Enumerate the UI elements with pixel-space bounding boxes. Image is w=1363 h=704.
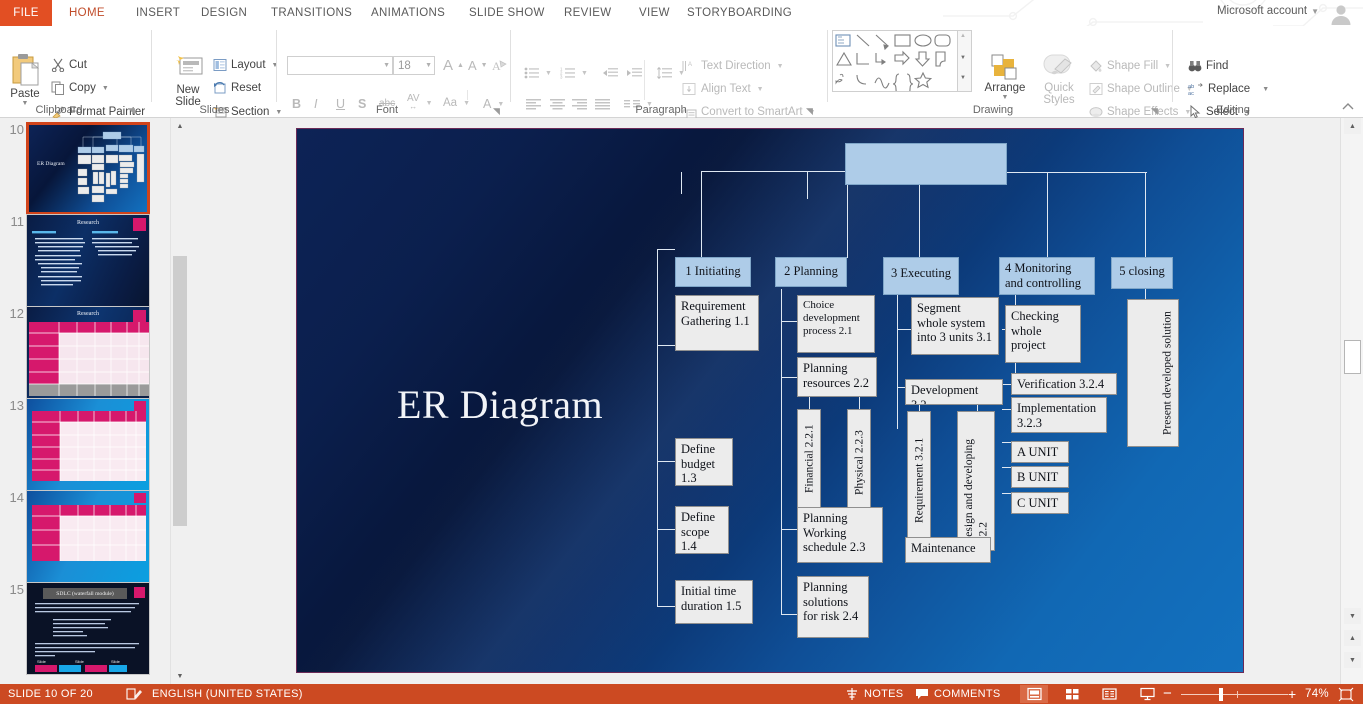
line-spacing-icon bbox=[657, 67, 672, 79]
connector bbox=[657, 249, 658, 606]
connector bbox=[781, 377, 797, 378]
shapes-more-icon[interactable]: ▼ bbox=[960, 75, 966, 81]
thumbnail-number: 12 bbox=[2, 306, 24, 321]
reset-icon bbox=[213, 81, 227, 95]
numbered-list-icon: 123 bbox=[560, 67, 575, 79]
connector bbox=[1145, 172, 1146, 257]
node-design-and-developing-3-2-2[interactable]: Design and developing 3.2.2 bbox=[957, 411, 995, 551]
group-label-clipboard: Clipboard bbox=[0, 104, 118, 116]
zoom-slider-track[interactable] bbox=[1181, 694, 1288, 695]
collapse-ribbon-button[interactable] bbox=[1341, 102, 1355, 115]
thumbnail-number: 13 bbox=[2, 398, 24, 413]
thumbnail-text-preview: SlideSlideSlide bbox=[33, 603, 145, 673]
group-clipboard: Paste ▼ Cut Copy ▼ bbox=[0, 26, 152, 118]
normal-view-icon bbox=[1027, 687, 1042, 701]
clear-all-formatting-button[interactable]: A bbox=[489, 57, 511, 74]
group-label-drawing: Drawing bbox=[828, 104, 1158, 116]
layout-button[interactable]: Layout ▼ bbox=[210, 57, 281, 73]
connector bbox=[657, 345, 675, 346]
layout-icon bbox=[213, 58, 227, 72]
tab-home[interactable]: HOME bbox=[60, 0, 114, 26]
font-name-input[interactable]: ▼ bbox=[287, 56, 393, 75]
node-b-unit[interactable]: B UNIT bbox=[1011, 466, 1069, 488]
font-size-value: 18 bbox=[398, 60, 411, 72]
text-direction-icon: A bbox=[682, 59, 697, 73]
group-editing: Find ab ac Replace ▼ Select ▼ Editing bbox=[1173, 26, 1293, 118]
paste-label: Paste bbox=[10, 88, 39, 100]
chevron-down-icon: ▼ bbox=[1164, 63, 1171, 70]
node-3-executing[interactable]: 3 Executing bbox=[883, 257, 959, 295]
svg-text:ac: ac bbox=[1188, 91, 1194, 96]
thumbnail-table-preview bbox=[29, 322, 149, 398]
thumbnail-badge bbox=[134, 401, 146, 411]
clipboard-dialog-launcher[interactable]: ◥ bbox=[128, 106, 138, 116]
reading-view-icon bbox=[1102, 687, 1117, 701]
node-1-initiating[interactable]: 1 Initiating bbox=[675, 257, 751, 287]
previous-slide-button[interactable]: ▲ bbox=[1344, 630, 1361, 646]
layout-label: Layout bbox=[231, 59, 266, 72]
zoom-out-button[interactable]: − bbox=[1163, 684, 1172, 704]
zoom-in-button[interactable]: + bbox=[1288, 684, 1296, 704]
node-planning-solutions-for-risk-2-4[interactable]: Planning solutions for risk 2.4 bbox=[797, 576, 869, 638]
chevron-down-icon: ▼ bbox=[383, 62, 390, 69]
chevron-up-icon[interactable]: ▲ bbox=[960, 33, 966, 39]
chevron-down-icon: ▼ bbox=[581, 70, 588, 77]
thumbnail-badge bbox=[134, 587, 145, 598]
arrange-button[interactable]: Arrange ▼ bbox=[980, 52, 1030, 101]
view-reading-button[interactable] bbox=[1095, 685, 1123, 703]
slideshow-icon bbox=[1140, 687, 1155, 701]
chevron-down-icon: ▼ bbox=[545, 70, 552, 77]
paint-bucket-icon bbox=[1089, 59, 1103, 73]
comments-label: COMMENTS bbox=[934, 684, 1001, 704]
binoculars-icon bbox=[1188, 59, 1202, 73]
group-label-slides: Slides bbox=[152, 104, 277, 116]
proofing-status-button[interactable] bbox=[126, 684, 143, 704]
view-normal-button[interactable] bbox=[1020, 685, 1048, 703]
next-slide-button[interactable]: ▼ bbox=[1344, 652, 1361, 668]
chevron-down-icon: ▼ bbox=[102, 85, 109, 92]
thumbnail-bullets-preview bbox=[32, 231, 146, 303]
slide-thumbnail-panel[interactable]: 10 ER Diagram bbox=[0, 118, 170, 684]
node-a-unit[interactable]: A UNIT bbox=[1011, 441, 1069, 463]
reset-label: Reset bbox=[231, 82, 261, 95]
shrink-font-icon: A bbox=[468, 58, 477, 73]
tab-design[interactable]: DESIGN bbox=[192, 0, 256, 26]
node-planning-working-schedule-2-3[interactable]: Planning Working schedule 2.3 bbox=[797, 507, 883, 563]
tab-storyboarding[interactable]: STORYBOARDING bbox=[678, 0, 801, 26]
thumbnail-table-preview bbox=[32, 411, 146, 483]
divider bbox=[467, 90, 468, 100]
increase-indent-button[interactable] bbox=[623, 66, 645, 80]
shapes-gallery[interactable] bbox=[832, 30, 958, 92]
thumbnail-number: 15 bbox=[2, 582, 24, 597]
account-label: Microsoft account bbox=[1217, 5, 1307, 17]
decrease-indent-button[interactable] bbox=[599, 66, 621, 80]
scrollbar-thumb[interactable] bbox=[173, 256, 187, 526]
thumbnail-slide-15[interactable]: SDLC (waterfall module) SlideSlideSlide bbox=[26, 582, 150, 675]
increase-indent-icon bbox=[626, 67, 642, 79]
svg-text:ab: ab bbox=[1188, 84, 1194, 90]
bullets-button[interactable]: ▼ bbox=[521, 66, 555, 80]
cut-label: Cut bbox=[69, 59, 87, 72]
thumbnail-table-preview bbox=[32, 505, 146, 571]
svg-text:Slide: Slide bbox=[111, 659, 121, 664]
group-drawing: ▲ ▼ ▼ Arrange ▼ Quick Styles bbox=[828, 26, 1173, 118]
fit-to-window-icon bbox=[1338, 687, 1354, 702]
connector bbox=[1047, 172, 1048, 257]
zoom-slider-tick bbox=[1237, 691, 1238, 698]
connector bbox=[657, 249, 675, 250]
thumbnail-badge bbox=[134, 493, 146, 503]
thumbnail-number: 10 bbox=[2, 122, 24, 137]
scrollbar-thumb[interactable] bbox=[1344, 340, 1361, 374]
quick-styles-button[interactable]: Quick Styles bbox=[1033, 52, 1085, 106]
slideshow-button[interactable] bbox=[1133, 685, 1161, 703]
chevron-down-icon: ▼ bbox=[777, 63, 784, 70]
language-indicator: ENGLISH (UNITED STATES) bbox=[152, 684, 303, 704]
cut-button[interactable]: Cut bbox=[48, 57, 90, 73]
connector bbox=[657, 461, 675, 462]
quick-styles-icon bbox=[1041, 52, 1077, 82]
slide-view-scrollbar[interactable]: ▲ ▼ ▲ ▼ bbox=[1340, 118, 1363, 684]
node-2-planning[interactable]: 2 Planning bbox=[775, 257, 847, 287]
tab-slide-show[interactable]: SLIDE SHOW bbox=[460, 0, 554, 26]
pencil-outline-icon bbox=[1089, 82, 1103, 96]
scissors-icon bbox=[51, 58, 65, 72]
node-financial-2-2-1[interactable]: Financial 2.2.1 bbox=[797, 409, 821, 509]
svg-text:Slide: Slide bbox=[37, 659, 47, 664]
thumbnail-title: ER Diagram bbox=[37, 161, 65, 167]
chevron-down-icon: ▼ bbox=[1002, 94, 1009, 101]
node-root[interactable] bbox=[845, 143, 1007, 185]
notes-icon bbox=[845, 687, 859, 701]
new-slide-icon bbox=[172, 54, 204, 84]
connector bbox=[701, 171, 702, 271]
new-slide-label-line1: New bbox=[176, 84, 199, 96]
find-label: Find bbox=[1206, 60, 1228, 73]
node-initial-time-duration-1-5[interactable]: Initial time duration 1.5 bbox=[675, 580, 753, 624]
node-verification-3-2-4[interactable]: Verification 3.2.4 bbox=[1011, 373, 1117, 395]
zoom-slider-handle[interactable] bbox=[1219, 688, 1223, 701]
node-present-developed-solution[interactable]: Present developed solution bbox=[1127, 299, 1179, 447]
svg-text:A: A bbox=[492, 59, 501, 73]
node-5-closing[interactable]: 5 closing bbox=[1111, 257, 1173, 289]
thumbnail-title: Research bbox=[27, 311, 149, 317]
scroll-up-arrow[interactable]: ▲ bbox=[1344, 118, 1361, 134]
comment-icon bbox=[915, 687, 929, 701]
node-checking-whole-project[interactable]: Checking whole project bbox=[1005, 305, 1081, 363]
copy-label: Copy bbox=[69, 82, 96, 95]
thumbnail-badge bbox=[133, 310, 146, 322]
zoom-percent-label: 74% bbox=[1305, 684, 1329, 704]
tab-animations[interactable]: ANIMATIONS bbox=[362, 0, 454, 26]
group-label-editing: Editing bbox=[1173, 104, 1293, 116]
group-label-font: Font bbox=[277, 104, 497, 116]
chevron-down-icon: ▼ bbox=[1311, 7, 1319, 16]
group-label-paragraph: Paragraph bbox=[511, 104, 811, 116]
arrange-label: Arrange bbox=[985, 82, 1026, 94]
copy-button[interactable]: Copy ▼ bbox=[48, 80, 112, 96]
arrange-icon bbox=[988, 52, 1022, 82]
grow-font-icon: A bbox=[443, 58, 453, 73]
align-text-label: Align Text bbox=[701, 83, 751, 96]
decrease-font-size-button[interactable]: A▼ bbox=[465, 57, 491, 74]
tab-review[interactable]: REVIEW bbox=[555, 0, 620, 26]
copy-icon bbox=[51, 81, 65, 95]
comments-button[interactable]: COMMENTS bbox=[915, 684, 1001, 704]
connector bbox=[897, 289, 898, 429]
notes-label: NOTES bbox=[864, 684, 903, 704]
chevron-down-icon: ▼ bbox=[757, 86, 764, 93]
node-requirement-gathering-1-1[interactable]: Requirement Gathering 1.1 bbox=[675, 295, 759, 351]
slide-canvas[interactable]: ER Diagram bbox=[296, 128, 1244, 673]
thumbnail-slide-12[interactable]: Research bbox=[26, 306, 150, 399]
group-font: ▼ 18 ▼ A▲ A▼ A B I U S abc AV ↔ ▼ bbox=[277, 26, 511, 118]
file-tab[interactable]: FILE bbox=[0, 0, 52, 26]
chevron-down-icon: ▼ bbox=[1262, 86, 1269, 93]
fit-to-window-button[interactable] bbox=[1338, 684, 1354, 704]
reset-button[interactable]: Reset bbox=[210, 80, 264, 96]
clear-formatting-icon: A bbox=[492, 58, 508, 73]
notes-button[interactable]: NOTES bbox=[845, 684, 903, 704]
slide-title-text[interactable]: ER Diagram bbox=[397, 381, 697, 428]
connector bbox=[781, 529, 797, 530]
node-segment-whole-system-3-1[interactable]: Segment whole system into 3 units 3.1 bbox=[911, 297, 999, 355]
status-bar: SLIDE 10 OF 20 ENGLISH (UNITED STATES) N… bbox=[0, 684, 1363, 704]
scroll-down-arrow[interactable]: ▼ bbox=[172, 668, 188, 684]
text-direction-label: Text Direction bbox=[701, 60, 771, 73]
thumbnail-number: 14 bbox=[2, 490, 24, 505]
thumbnail-slide-11[interactable]: Research bbox=[26, 214, 150, 307]
align-text-button[interactable]: Align Text ▼ bbox=[679, 81, 767, 97]
connector bbox=[781, 289, 782, 614]
text-direction-button[interactable]: A Text Direction ▼ bbox=[679, 58, 787, 74]
find-button[interactable]: Find bbox=[1185, 58, 1231, 74]
font-dialog-launcher[interactable]: ◥ bbox=[493, 106, 503, 116]
node-requirement-3-2-1[interactable]: Requirement 3.2.1 bbox=[907, 411, 931, 549]
node-development-3-2[interactable]: Development 3.2 bbox=[905, 379, 1003, 405]
slide-edit-area[interactable]: ER Diagram bbox=[188, 118, 1340, 684]
divider bbox=[644, 60, 645, 100]
node-define-budget-1-3[interactable]: Define budget 1.3 bbox=[675, 438, 733, 486]
connector bbox=[781, 614, 797, 615]
node-4-monitoring-and-controlling[interactable]: 4 Monitoring and controlling bbox=[999, 257, 1095, 295]
numbering-button[interactable]: 123 ▼ bbox=[557, 66, 591, 80]
node-physical-2-2-3[interactable]: Physical 2.2.3 bbox=[847, 409, 871, 517]
slide-indicator: SLIDE 10 OF 20 bbox=[8, 684, 93, 704]
scroll-down-arrow[interactable]: ▼ bbox=[1344, 608, 1361, 624]
view-slide-sorter-button[interactable] bbox=[1058, 685, 1086, 703]
slide-panel-scrollbar[interactable]: ▲ ▼ bbox=[170, 118, 188, 684]
bullet-list-icon bbox=[524, 67, 539, 79]
connector bbox=[657, 606, 675, 607]
replace-icon: ab ac bbox=[1188, 82, 1204, 96]
shapes-gallery-icons bbox=[833, 31, 957, 91]
tab-transitions[interactable]: TRANSITIONS bbox=[262, 0, 361, 26]
group-paragraph: ▼ 123 ▼ ▼ bbox=[511, 26, 828, 118]
thumbnail-number: 11 bbox=[2, 214, 24, 229]
thumbnail-title: SDLC (waterfall module) bbox=[43, 588, 127, 599]
node-choice-development-process-2-1[interactable]: Choice development process 2.1 bbox=[797, 295, 875, 353]
paste-icon bbox=[8, 52, 42, 88]
svg-text:3: 3 bbox=[560, 75, 563, 79]
title-bar: FILE HOME INSERT DESIGN TRANSITIONS ANIM… bbox=[0, 0, 1363, 26]
chevron-down-icon[interactable]: ▼ bbox=[960, 55, 966, 61]
shape-fill-button[interactable]: Shape Fill ▼ bbox=[1086, 58, 1174, 74]
thumbnail-slide-14[interactable] bbox=[26, 490, 150, 583]
new-slide-button[interactable]: New Slide bbox=[164, 54, 212, 108]
increase-font-size-button[interactable]: A▲ bbox=[440, 57, 467, 74]
svg-text:Slide: Slide bbox=[75, 659, 85, 664]
replace-label: Replace bbox=[1208, 83, 1250, 96]
decrease-indent-icon bbox=[602, 67, 618, 79]
replace-button[interactable]: ab ac Replace ▼ bbox=[1185, 81, 1272, 97]
avatar[interactable] bbox=[1327, 2, 1355, 26]
chevron-up-icon bbox=[1341, 102, 1355, 112]
node-maintenance[interactable]: Maintenance bbox=[905, 537, 991, 563]
shape-fill-label: Shape Fill bbox=[1107, 60, 1158, 73]
tab-view[interactable]: VIEW bbox=[630, 0, 679, 26]
thumbnail-diagram-preview bbox=[73, 129, 147, 213]
align-text-icon bbox=[682, 82, 697, 96]
quick-styles-label-line1: Quick bbox=[1044, 82, 1073, 94]
node-implementation-3-2-3[interactable]: Implementation 3.2.3 bbox=[1011, 397, 1107, 433]
node-planning-resources-2-2[interactable]: Planning resources 2.2 bbox=[797, 357, 877, 397]
thumbnail-title: Research bbox=[27, 220, 149, 226]
group-slides: New Slide Layout ▼ Reset bbox=[152, 26, 277, 118]
chevron-down-icon: ▼ bbox=[425, 62, 432, 69]
connector bbox=[657, 529, 675, 530]
thumbnail-slide-13[interactable] bbox=[26, 398, 150, 491]
account-menu[interactable]: Microsoft account▼ bbox=[1217, 5, 1319, 17]
paragraph-dialog-launcher[interactable]: ◥ bbox=[806, 106, 816, 116]
drawing-dialog-launcher[interactable]: ◥ bbox=[1151, 106, 1161, 116]
node-c-unit[interactable]: C UNIT bbox=[1011, 492, 1069, 514]
connector bbox=[897, 329, 911, 330]
scroll-up-arrow[interactable]: ▲ bbox=[172, 118, 188, 134]
node-define-scope-1-4[interactable]: Define scope 1.4 bbox=[675, 506, 729, 554]
slide-sorter-icon bbox=[1065, 687, 1080, 701]
connector bbox=[807, 171, 808, 199]
tab-insert[interactable]: INSERT bbox=[127, 0, 189, 26]
font-size-input[interactable]: 18 ▼ bbox=[393, 56, 435, 75]
thumbnail-slide-10[interactable]: ER Diagram bbox=[26, 122, 150, 215]
connector bbox=[781, 321, 797, 322]
connector bbox=[681, 172, 682, 194]
thumbnail-badge bbox=[133, 218, 146, 231]
spellcheck-icon bbox=[126, 687, 143, 701]
ribbon: Paste ▼ Cut Copy ▼ bbox=[0, 26, 1363, 118]
shapes-gallery-scroll[interactable]: ▲ ▼ ▼ bbox=[958, 30, 972, 92]
shape-outline-label: Shape Outline bbox=[1107, 83, 1180, 96]
svg-text:A: A bbox=[688, 62, 692, 68]
